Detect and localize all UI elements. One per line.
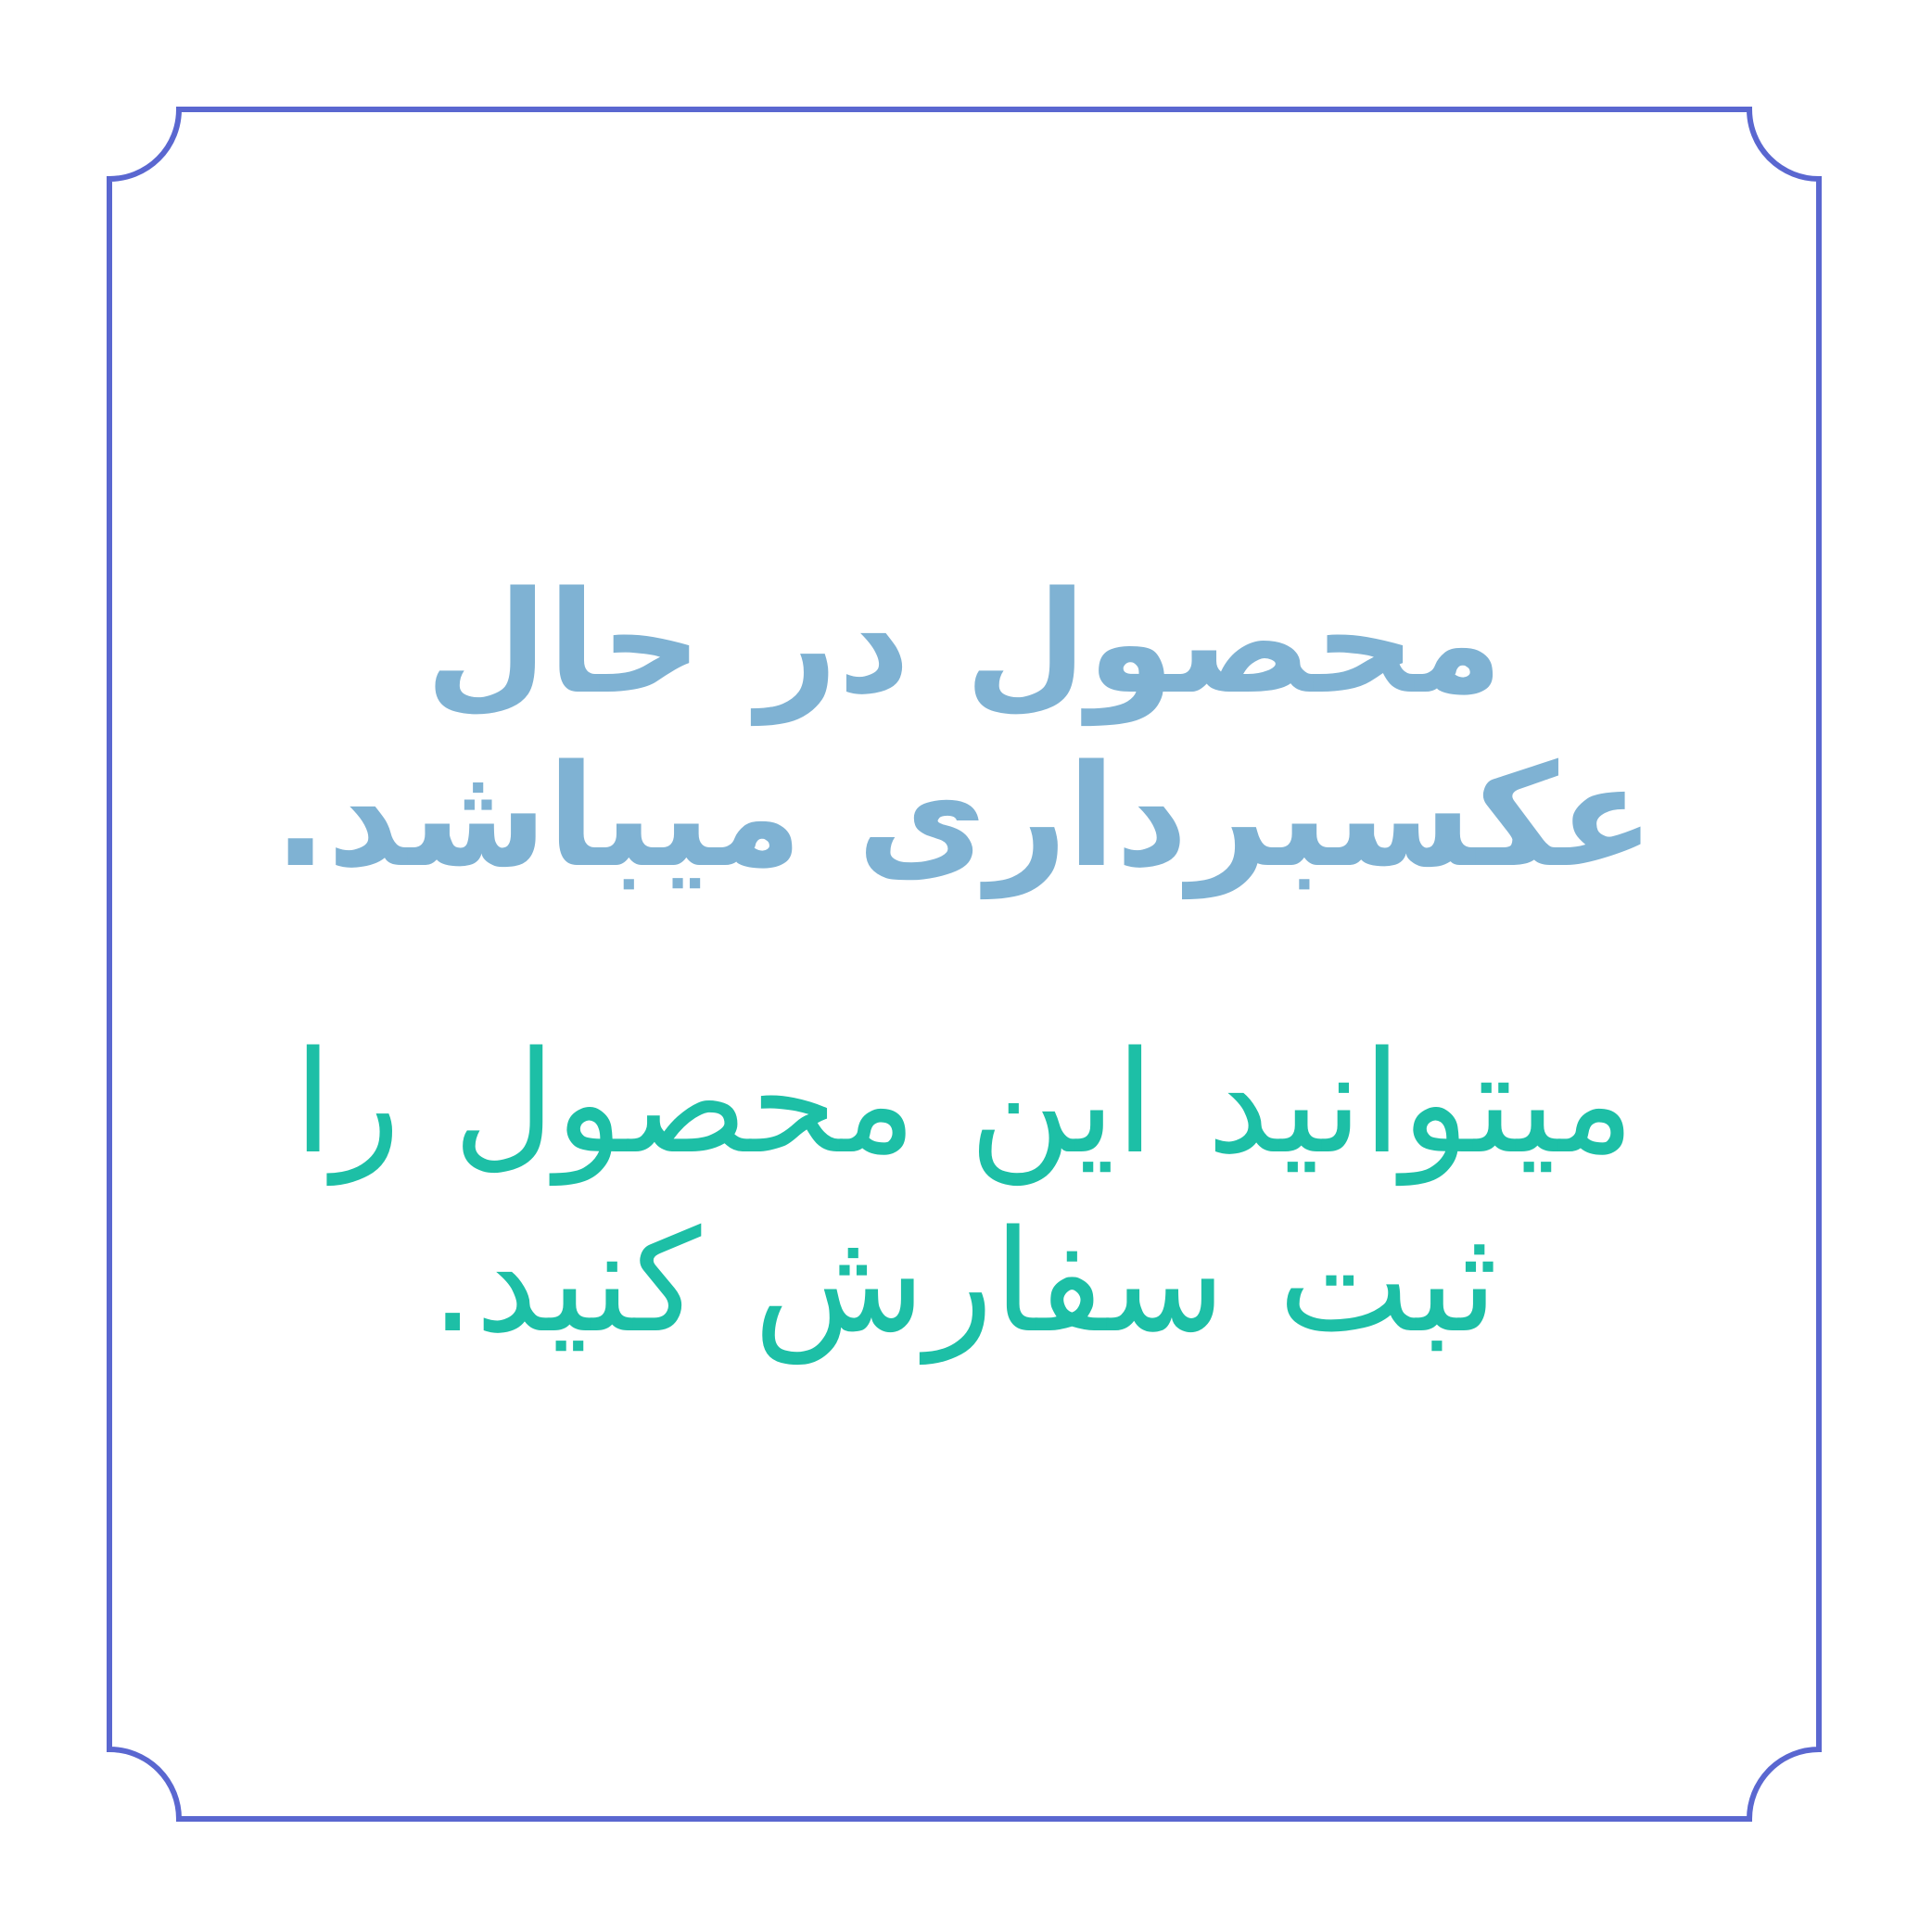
product-placeholder-card: محصول در حال عکسبرداری میباشد. میتوانید …	[0, 0, 1932, 1932]
secondary-order-message: میتوانید این محصول را ثبت سفارش کنید.	[165, 1013, 1763, 1371]
primary-status-message: محصول در حال عکسبرداری میباشد.	[165, 557, 1763, 904]
message-stack: محصول در حال عکسبرداری میباشد. میتوانید …	[109, 109, 1819, 1819]
